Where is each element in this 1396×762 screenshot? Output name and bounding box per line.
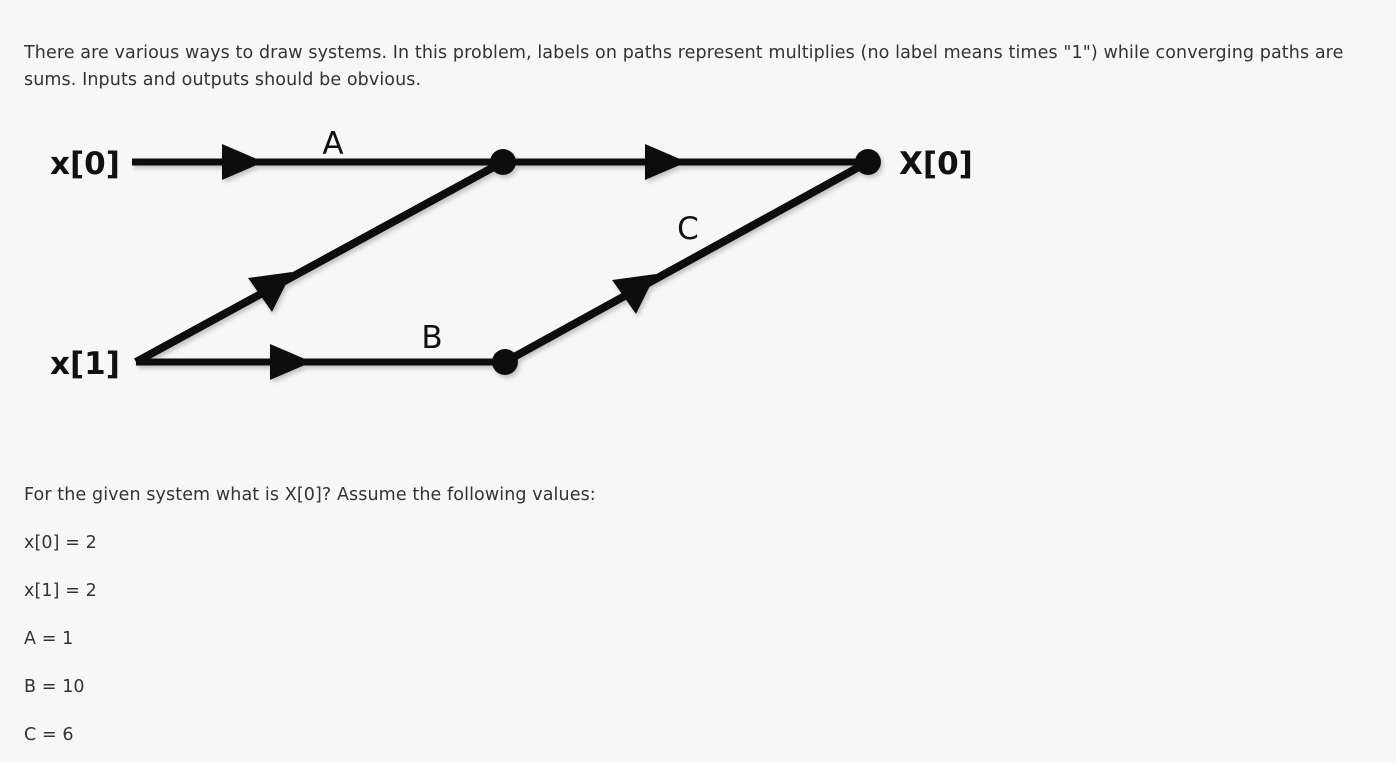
arrowhead-b-path	[270, 344, 312, 380]
edge-x1-to-top-node-diagonal	[136, 162, 503, 362]
value-line-b: B = 10	[24, 675, 85, 699]
arrowhead-c-path	[612, 274, 656, 314]
value-line-a: A = 1	[24, 627, 73, 651]
input-label-x1: x[1]	[50, 346, 120, 382]
arrowhead-x1-diagonal-path	[248, 272, 292, 312]
intro-paragraph: There are various ways to draw systems. …	[24, 40, 1369, 94]
node-top-summing	[490, 149, 516, 175]
input-label-x0: x[0]	[50, 146, 120, 182]
edge-bottom-node-to-output-diagonal	[505, 162, 868, 362]
node-bottom-branch	[492, 349, 518, 375]
question-prompt: For the given system what is X[0]? Assum…	[24, 483, 596, 507]
path-label-C: C	[677, 211, 699, 247]
value-line-x0: x[0] = 2	[24, 531, 97, 555]
problem-page: There are various ways to draw systems. …	[0, 0, 1396, 762]
signal-flow-diagram: x[0] x[1] X[0] A B C	[0, 108, 1020, 408]
output-label-X0: X[0]	[899, 146, 973, 182]
value-line-x1: x[1] = 2	[24, 579, 97, 603]
node-output-summing	[855, 149, 881, 175]
arrowhead-x0-path	[222, 144, 264, 180]
signal-flow-graph-svg: x[0] x[1] X[0] A B C	[0, 108, 1020, 408]
arrowhead-output-path	[645, 144, 687, 180]
path-label-A: A	[322, 126, 343, 162]
graph-geometry	[132, 144, 881, 380]
value-line-c: C = 6	[24, 723, 74, 747]
path-label-B: B	[421, 320, 442, 356]
